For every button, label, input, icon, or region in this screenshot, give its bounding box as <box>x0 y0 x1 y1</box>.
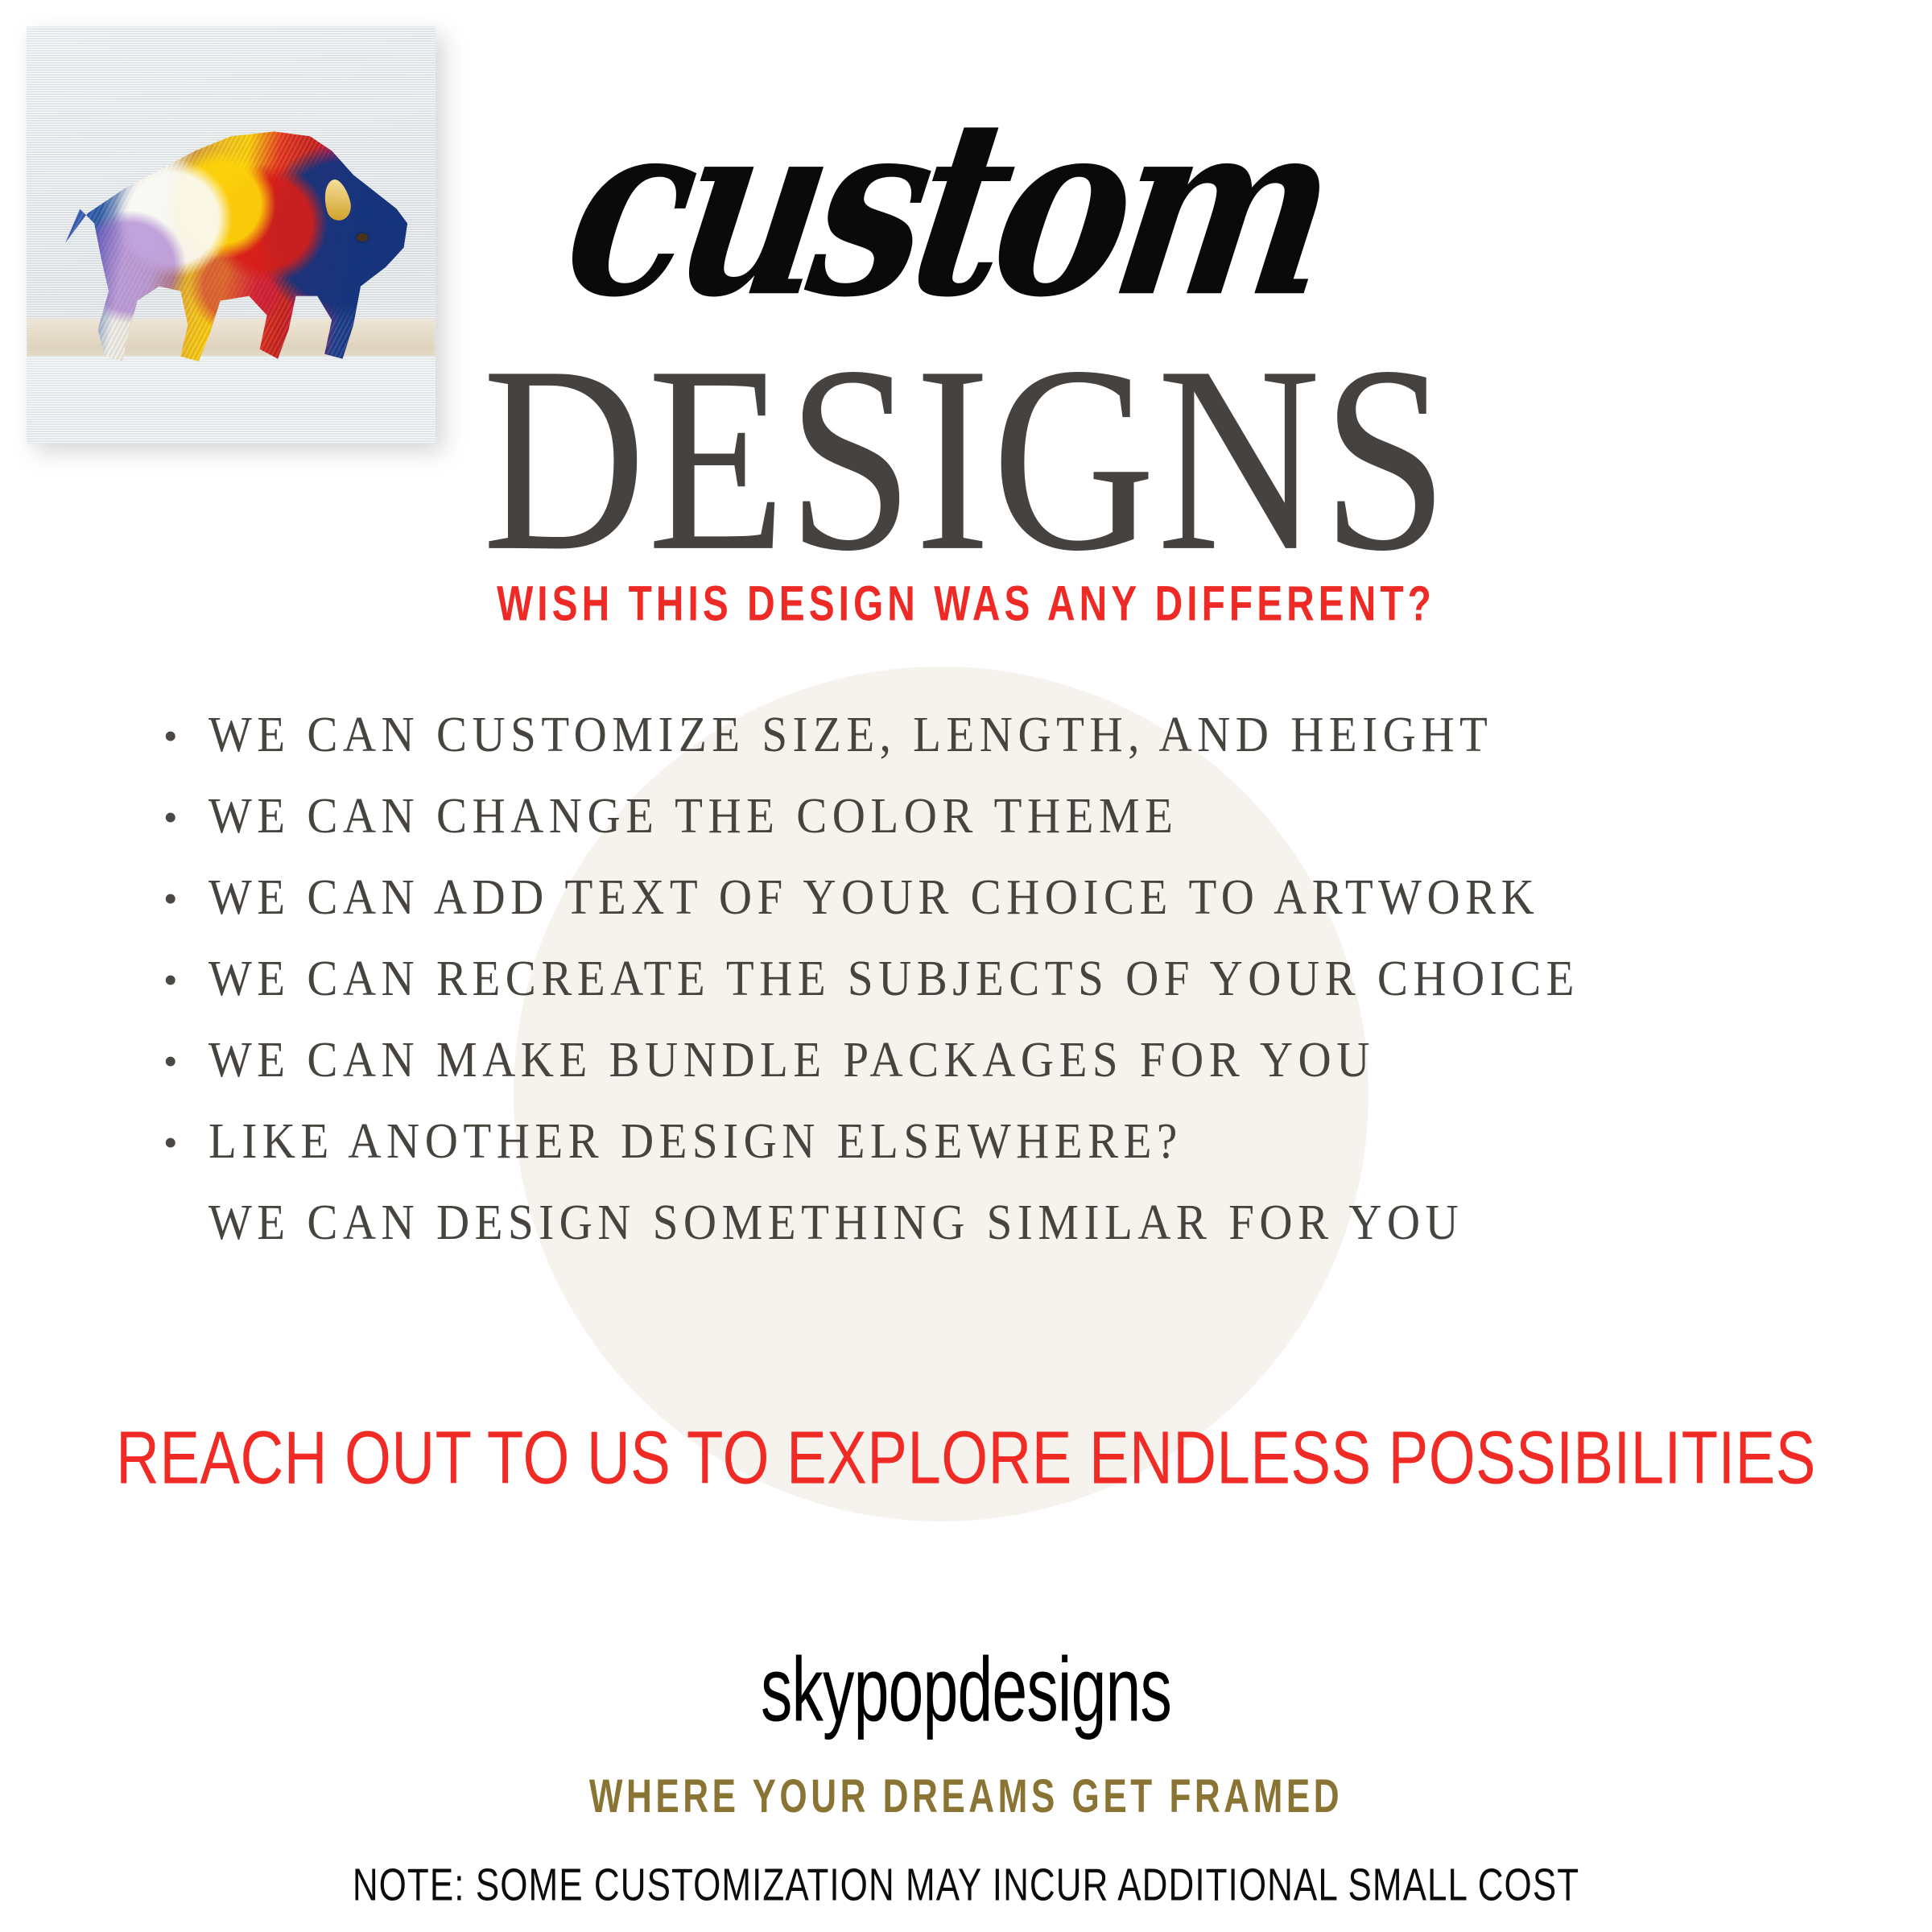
list-item: •WE CAN MAKE BUNDLE PACKAGES FOR YOU <box>157 1034 1815 1115</box>
artwork-thumbnail[interactable] <box>27 27 436 444</box>
list-item: •WE CAN DESIGN SOMETHING SIMILAR FOR YOU <box>157 1196 1815 1278</box>
list-item: •LIKE ANOTHER DESIGN ELSEWHERE? <box>157 1115 1815 1196</box>
bullet-dot-icon: • <box>157 960 208 1000</box>
list-item-label: WE CAN ADD TEXT OF YOUR CHOICE TO ARTWOR… <box>208 869 1539 927</box>
list-item-label: WE CAN MAKE BUNDLE PACKAGES FOR YOU <box>208 1031 1375 1089</box>
brand-name: skypopdesigns <box>174 1638 1758 1743</box>
footnote-disclaimer: NOTE: SOME CUSTOMIZATION MAY INCUR ADDIT… <box>116 1858 1816 1911</box>
cta-text[interactable]: REACH OUT TO US TO EXPLORE ENDLESS POSSI… <box>68 1415 1864 1501</box>
list-item-label: WE CAN RECREATE THE SUBJECTS OF YOUR CHO… <box>208 950 1579 1008</box>
list-item: •WE CAN CUSTOMIZE SIZE, LENGTH, AND HEIG… <box>157 708 1815 790</box>
custom-designs-poster: custom DESIGNS WISH THIS DESIGN WAS ANY … <box>0 0 1932 1932</box>
bullet-dot-icon: • <box>157 1122 208 1162</box>
bullet-dot-icon: • <box>157 878 208 919</box>
list-item-label: WE CAN CUSTOMIZE SIZE, LENGTH, AND HEIGH… <box>208 706 1492 764</box>
foreground-texture <box>27 356 436 444</box>
bullet-dot-icon: • <box>157 716 208 756</box>
bison-eye-icon <box>357 233 367 242</box>
list-item: •WE CAN CHANGE THE COLOR THEME <box>157 790 1815 871</box>
bullet-dot-icon: • <box>157 797 208 837</box>
customization-options-list: •WE CAN CUSTOMIZE SIZE, LENGTH, AND HEIG… <box>157 708 1815 1278</box>
brand-tagline: WHERE YOUR DREAMS GET FRAMED <box>97 1769 1835 1823</box>
subtitle-question: WISH THIS DESIGN WAS ANY DIFFERENT? <box>77 576 1855 633</box>
list-item-label: WE CAN CHANGE THE COLOR THEME <box>208 787 1178 845</box>
list-item: •WE CAN RECREATE THE SUBJECTS OF YOUR CH… <box>157 952 1815 1034</box>
list-item-label: WE CAN DESIGN SOMETHING SIMILAR FOR YOU <box>208 1194 1463 1252</box>
bullet-dot-icon: • <box>157 1041 208 1081</box>
list-item: •WE CAN ADD TEXT OF YOUR CHOICE TO ARTWO… <box>157 871 1815 952</box>
list-item-label: LIKE ANOTHER DESIGN ELSEWHERE? <box>208 1113 1183 1170</box>
